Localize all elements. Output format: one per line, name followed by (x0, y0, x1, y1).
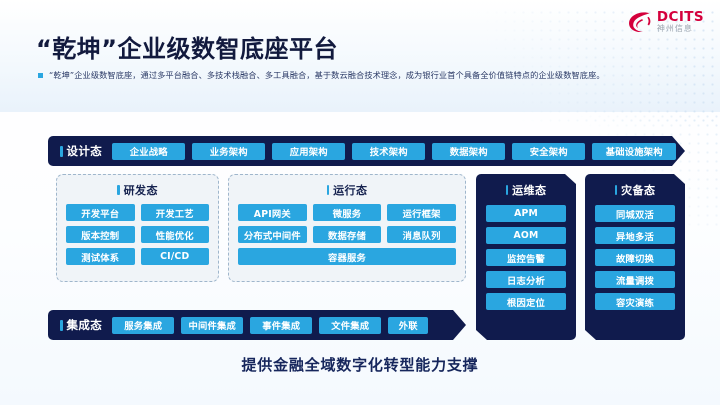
dr-panel-title-group: 灾备态 (595, 182, 675, 198)
ops-cell-root-cause[interactable]: 根因定位 (486, 293, 566, 310)
dr-cell-same-city-active[interactable]: 同城双活 (595, 205, 675, 222)
accent-tick-icon (327, 185, 330, 195)
runtime-cell-message-queue[interactable]: 消息队列 (387, 226, 456, 243)
design-chip-infrastructure-architecture[interactable]: 基础设施架构 (592, 143, 676, 160)
runtime-panel-grid: API网关 微服务 运行框架 分布式中间件 数据存储 消息队列 容器服务 (238, 204, 456, 265)
brand-logo: DCITS 神州信息 (627, 10, 704, 34)
integration-layer-title: 集成态 (67, 317, 103, 333)
accent-tick-icon (506, 185, 509, 195)
runtime-panel-title-group: 运行态 (238, 182, 456, 198)
dev-cell-version-control[interactable]: 版本控制 (66, 226, 135, 243)
integration-chip-row: 服务集成 中间件集成 事件集成 文件集成 外联 (112, 317, 428, 334)
dr-panel-stack: 同城双活 异地多活 故障切换 流量调拨 容灾演练 (595, 205, 675, 310)
ops-panel-title: 运维态 (512, 182, 546, 198)
runtime-panel-title: 运行态 (333, 182, 367, 198)
page-title: “乾坤”企业级数智底座平台 (36, 29, 338, 64)
dev-panel-grid: 开发平台 开发工艺 版本控制 性能优化 测试体系 CI/CD (66, 204, 209, 265)
integration-chip-event[interactable]: 事件集成 (250, 317, 312, 334)
design-chip-business-architecture[interactable]: 业务架构 (192, 143, 265, 160)
dr-cell-dr-drill[interactable]: 容灾演练 (595, 293, 675, 310)
runtime-cell-api-gateway[interactable]: API网关 (238, 204, 307, 221)
dr-panel-title: 灾备态 (621, 182, 655, 198)
dev-panel: 研发态 开发平台 开发工艺 版本控制 性能优化 测试体系 CI/CD (56, 174, 219, 282)
ops-cell-monitoring-alerts[interactable]: 监控告警 (486, 249, 566, 266)
ops-cell-apm[interactable]: APM (486, 205, 566, 222)
dev-row: 版本控制 性能优化 (66, 226, 209, 243)
integration-chip-file[interactable]: 文件集成 (319, 317, 381, 334)
design-chip-security-architecture[interactable]: 安全架构 (512, 143, 585, 160)
runtime-cell-runtime-framework[interactable]: 运行框架 (387, 204, 456, 221)
ops-cell-log-analysis[interactable]: 日志分析 (486, 271, 566, 288)
dev-cell-test-system[interactable]: 测试体系 (66, 248, 135, 265)
design-layer-title-group: 设计态 (48, 143, 112, 159)
integration-chip-service[interactable]: 服务集成 (112, 317, 174, 334)
design-layer-bar: 设计态 企业战略 业务架构 应用架构 技术架构 数据架构 安全架构 基础设施架构 (48, 136, 685, 166)
dev-row: 开发平台 开发工艺 (66, 204, 209, 221)
integration-chip-middleware[interactable]: 中间件集成 (181, 317, 243, 334)
dr-cell-traffic-scheduling[interactable]: 流量调拨 (595, 271, 675, 288)
dev-cell-performance-tuning[interactable]: 性能优化 (141, 226, 210, 243)
subtitle-row: “乾坤”企业级数智底座，通过多平台融合、多技术栈融合、多工具融合，基于数云融合技… (38, 69, 605, 81)
subtitle-text: “乾坤”企业级数智底座，通过多平台融合、多技术栈融合、多工具融合，基于数云融合技… (49, 69, 605, 81)
design-chip-data-architecture[interactable]: 数据架构 (432, 143, 505, 160)
runtime-cell-container-service[interactable]: 容器服务 (238, 248, 456, 265)
dev-cell-dev-process[interactable]: 开发工艺 (141, 204, 210, 221)
dr-cell-failover[interactable]: 故障切换 (595, 249, 675, 266)
runtime-row: 分布式中间件 数据存储 消息队列 (238, 226, 456, 243)
ops-cell-aom[interactable]: AOM (486, 227, 566, 244)
dev-panel-title-group: 研发态 (66, 182, 209, 198)
footer-caption: 提供金融全域数字化转型能力支撑 (0, 354, 720, 375)
dev-cell-cicd[interactable]: CI/CD (141, 248, 210, 265)
dev-cell-dev-platform[interactable]: 开发平台 (66, 204, 135, 221)
integration-chip-external[interactable]: 外联 (388, 317, 428, 334)
ops-panel-stack: APM AOM 监控告警 日志分析 根因定位 (486, 205, 566, 310)
accent-tick-icon (60, 146, 63, 157)
dcits-swoosh-icon (627, 10, 653, 34)
accent-tick-icon (615, 185, 618, 195)
ops-panel: 运维态 APM AOM 监控告警 日志分析 根因定位 (476, 174, 576, 340)
runtime-row: 容器服务 (238, 248, 456, 265)
logo-text-en: DCITS (657, 11, 704, 25)
accent-tick-icon (117, 185, 120, 195)
logo-text-cn: 神州信息 (657, 25, 704, 33)
design-chip-technology-architecture[interactable]: 技术架构 (352, 143, 425, 160)
design-chip-application-architecture[interactable]: 应用架构 (272, 143, 345, 160)
disaster-recovery-panel: 灾备态 同城双活 异地多活 故障切换 流量调拨 容灾演练 (585, 174, 685, 340)
design-chip-row: 企业战略 业务架构 应用架构 技术架构 数据架构 安全架构 基础设施架构 (112, 143, 676, 160)
runtime-cell-microservices[interactable]: 微服务 (313, 204, 382, 221)
dr-cell-remote-multi-active[interactable]: 异地多活 (595, 227, 675, 244)
integration-layer-title-group: 集成态 (48, 317, 112, 333)
design-chip-enterprise-strategy[interactable]: 企业战略 (112, 143, 185, 160)
runtime-cell-data-storage[interactable]: 数据存储 (313, 226, 382, 243)
runtime-row: API网关 微服务 运行框架 (238, 204, 456, 221)
runtime-panel: 运行态 API网关 微服务 运行框架 分布式中间件 数据存储 消息队列 容器服务 (228, 174, 466, 282)
accent-tick-icon (60, 320, 63, 331)
ops-panel-title-group: 运维态 (486, 182, 566, 198)
design-layer-title: 设计态 (67, 143, 103, 159)
capability-diagram: 设计态 企业战略 业务架构 应用架构 技术架构 数据架构 安全架构 基础设施架构… (48, 136, 685, 340)
integration-layer-bar: 集成态 服务集成 中间件集成 事件集成 文件集成 外联 (48, 310, 466, 340)
square-bullet-icon (38, 73, 43, 78)
runtime-cell-distributed-middleware[interactable]: 分布式中间件 (238, 226, 307, 243)
dev-panel-title: 研发态 (124, 182, 158, 198)
dev-row: 测试体系 CI/CD (66, 248, 209, 265)
